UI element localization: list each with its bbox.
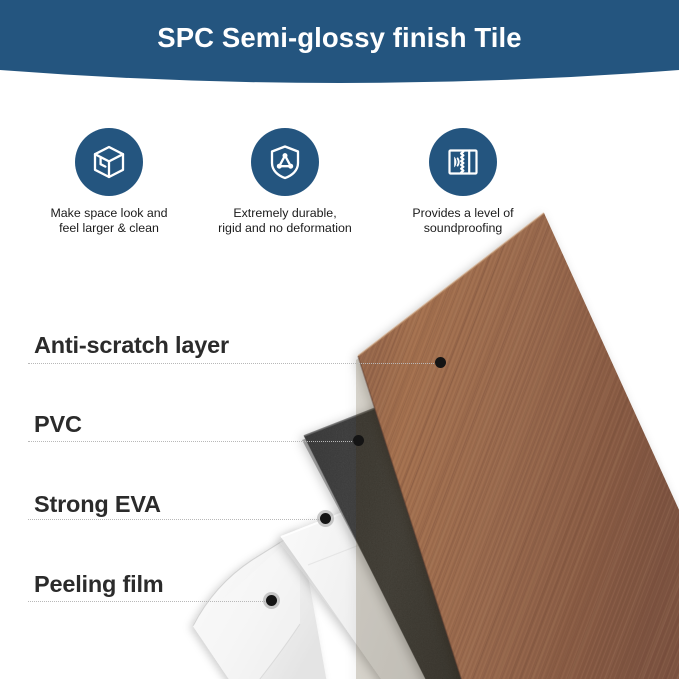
- box-3d-icon: [89, 142, 129, 182]
- marker-dot-eva: [320, 513, 331, 524]
- marker-dot-anti-scratch: [435, 357, 446, 368]
- page-title: SPC Semi-glossy finish Tile: [0, 21, 679, 55]
- feature-item-durable: Extremely durable, rigid and no deformat…: [199, 128, 371, 237]
- soundproofing-wall-icon: [442, 141, 484, 183]
- feature-caption: Extremely durable, rigid and no deformat…: [199, 206, 371, 237]
- leader-line-peeling-film: [28, 601, 271, 603]
- feature-caption: Make space look and feel larger & clean: [23, 206, 195, 237]
- layer-label-anti-scratch: Anti-scratch layer: [34, 332, 229, 359]
- layer-label-eva: Strong EVA: [34, 491, 161, 518]
- leader-line-eva: [28, 519, 325, 521]
- shield-molecule-icon: [265, 142, 305, 182]
- feature-item-space: Make space look and feel larger & clean: [23, 128, 195, 237]
- wood-plank-anti-scratch: [356, 213, 679, 679]
- marker-dot-peeling-film: [266, 595, 277, 606]
- feature-icon-circle: [75, 128, 143, 196]
- eva-backing-plank: [279, 476, 560, 679]
- header-banner: SPC Semi-glossy finish Tile: [0, 0, 679, 92]
- marker-dot-pvc: [353, 435, 364, 446]
- peeling-film-sheet: [193, 530, 330, 679]
- feature-caption: Provides a level of soundproofing: [377, 206, 549, 237]
- leader-line-anti-scratch: [28, 363, 440, 365]
- leader-line-pvc: [28, 441, 358, 443]
- feature-item-soundproof: Provides a level of soundproofing: [377, 128, 549, 237]
- feature-row: Make space look and feel larger & clean …: [0, 128, 679, 248]
- pvc-core-plank: [302, 375, 600, 679]
- layer-label-peeling-film: Peeling film: [34, 571, 164, 598]
- infographic-page: SPC Semi-glossy finish Tile Make space l…: [0, 0, 679, 679]
- feature-icon-circle: [251, 128, 319, 196]
- feature-icon-circle: [429, 128, 497, 196]
- layer-label-pvc: PVC: [34, 411, 82, 438]
